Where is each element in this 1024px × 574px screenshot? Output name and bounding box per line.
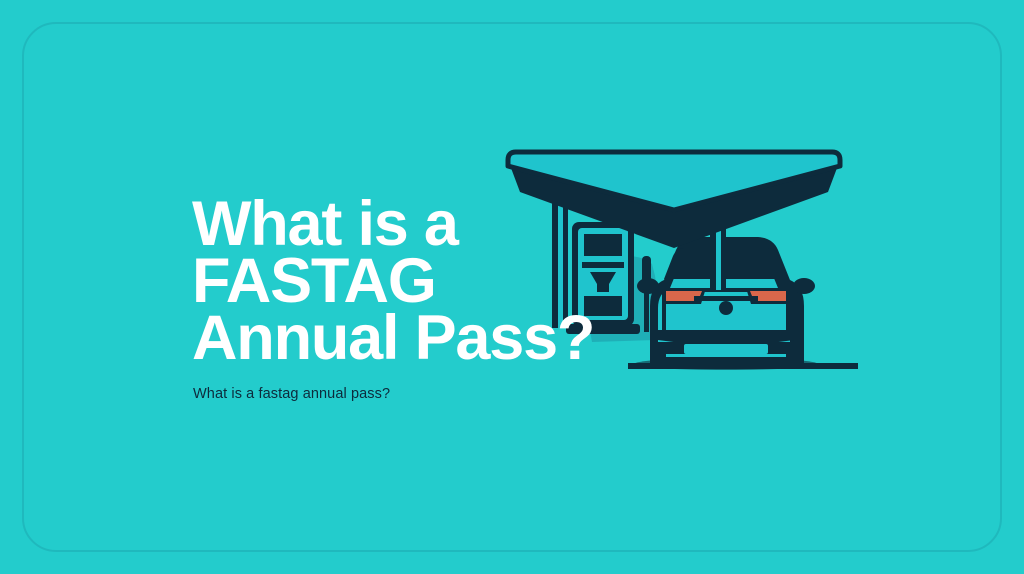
headline-block: What is a FASTAG Annual Pass? [192,196,712,367]
headline-line-2: FASTAG [192,253,712,310]
headline-line-1: What is a [192,196,712,253]
headline-line-3: Annual Pass? [192,310,712,367]
subtitle-text: What is a fastag annual pass? [193,386,390,402]
slide-canvas: What is a FASTAG Annual Pass? What is a … [0,0,1024,574]
